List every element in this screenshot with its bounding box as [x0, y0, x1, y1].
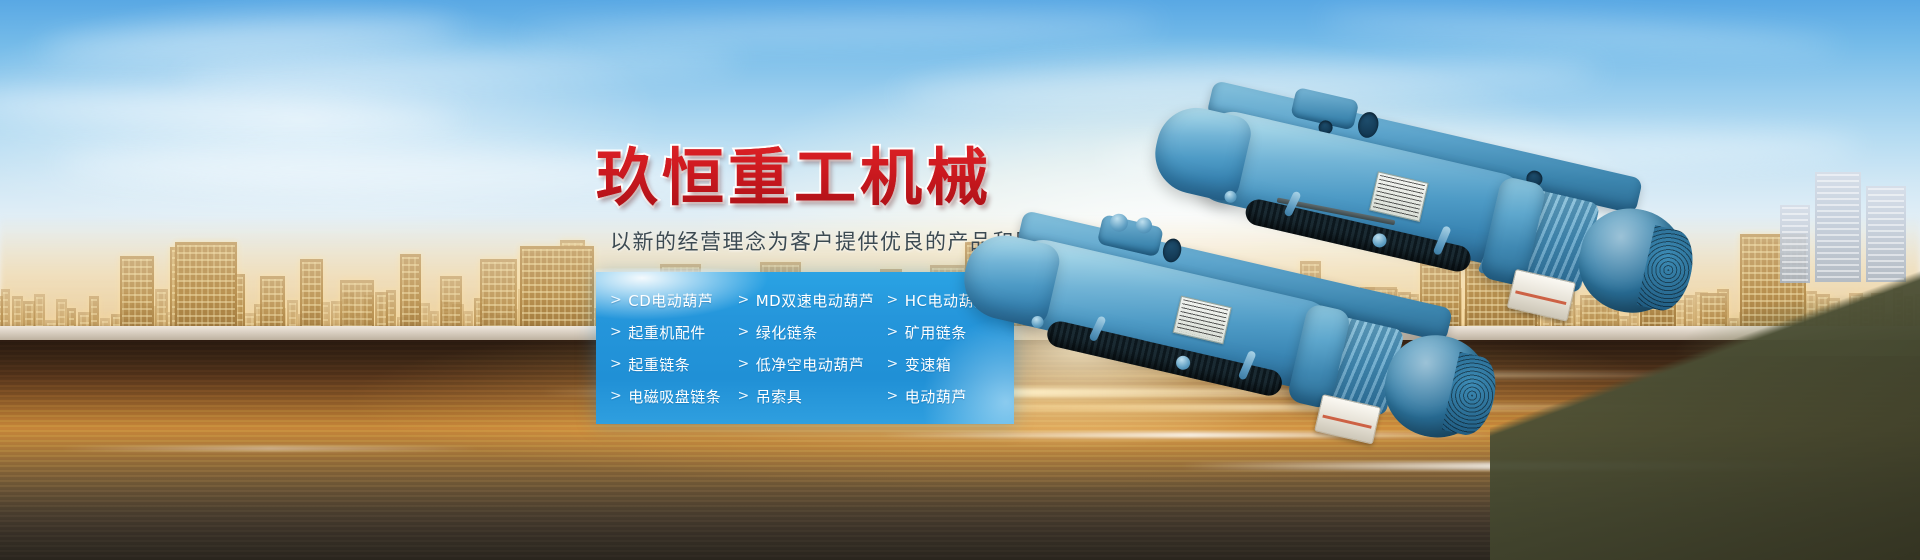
product-image-electric-hoists	[1040, 60, 1800, 440]
product-link[interactable]: >起重机配件	[610, 322, 737, 343]
skyline-landmark	[175, 242, 237, 338]
lane-marking	[60, 446, 480, 451]
product-link-label: CD电动葫芦	[628, 290, 713, 311]
product-link[interactable]: >CD电动葫芦	[610, 290, 737, 311]
product-link-label: 绿化链条	[756, 322, 818, 343]
product-link-label: 吊索具	[756, 386, 803, 407]
chevron-right-icon: >	[737, 356, 749, 372]
product-link[interactable]: >电磁吸盘链条	[610, 386, 737, 407]
terminal-box-stripe	[1322, 414, 1371, 428]
chevron-right-icon: >	[737, 292, 749, 308]
chevron-right-icon: >	[610, 292, 622, 308]
chevron-right-icon: >	[610, 388, 622, 404]
chevron-right-icon: >	[737, 388, 749, 404]
product-link-label: 起重链条	[628, 354, 690, 375]
chevron-right-icon: >	[610, 324, 622, 340]
chevron-right-icon: >	[737, 324, 749, 340]
product-link[interactable]: >起重链条	[610, 354, 737, 375]
chevron-right-icon: >	[610, 356, 622, 372]
hoist-gearbox-housing	[1147, 100, 1254, 204]
product-link-label: 起重机配件	[628, 322, 706, 343]
hero-banner: 玖恒重工机械 玖恒重工机械 以新的经营理念为客户提供优良的产品和服务 >CD电动…	[0, 0, 1920, 560]
terminal-box-stripe	[1515, 290, 1566, 305]
product-link-label: 电磁吸盘链条	[628, 386, 721, 407]
skyline-landmark	[520, 246, 594, 338]
